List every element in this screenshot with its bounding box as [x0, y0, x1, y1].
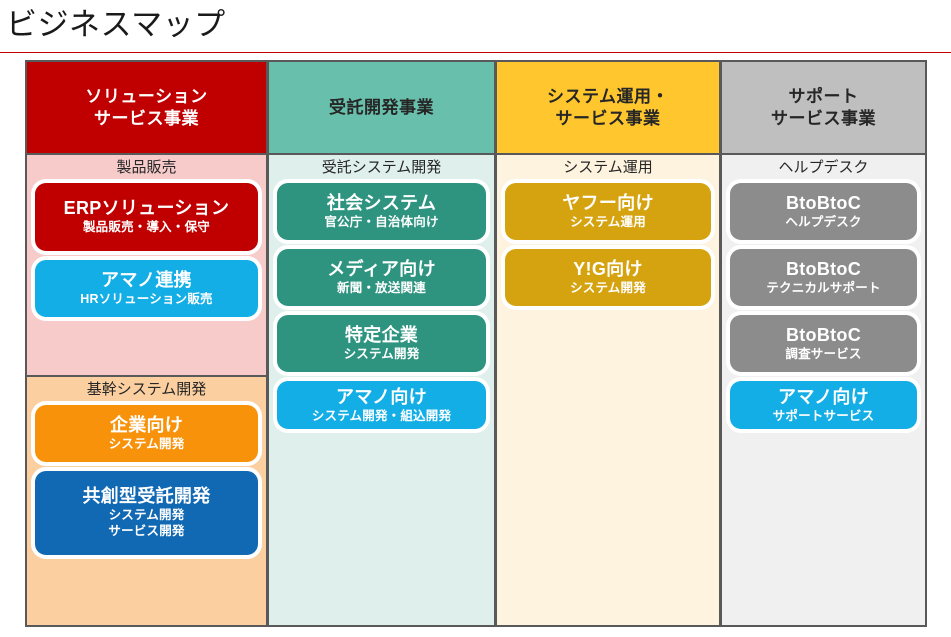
service-card-title: 共創型受託開発 [39, 485, 254, 507]
section-product-sales: 製品販売ERPソリューション製品販売・導入・保守アマノ連携HRソリューション販売 [27, 155, 266, 375]
section-title-product-sales: 製品販売 [35, 155, 258, 183]
column-contract-development: 受託開発事業受託システム開発社会システム官公庁・自治体向けメディア向け新聞・放送… [268, 60, 496, 627]
section-title-system-operation: システム運用 [505, 155, 711, 183]
column-header-support-service: サポートサービス事業 [722, 62, 925, 155]
section-spacer [730, 436, 917, 625]
service-card[interactable]: BtoBtoCヘルプデスク [730, 183, 917, 240]
section-spacer [505, 315, 711, 625]
service-card-title: アマノ連携 [39, 269, 254, 291]
service-card-subtitle: システム開発・組込開発 [281, 408, 482, 424]
column-header-system-operation-service: システム運用・サービス事業 [497, 62, 719, 155]
service-card[interactable]: Y!G向けシステム開発 [505, 249, 711, 306]
service-card[interactable]: アマノ向けサポートサービス [730, 381, 917, 429]
service-card-subtitle: システム開発 [39, 507, 254, 523]
service-card[interactable]: 社会システム官公庁・自治体向け [277, 183, 486, 240]
service-card-title: BtoBtoC [734, 192, 913, 214]
service-card-subtitle: ヘルプデスク [734, 214, 913, 230]
service-card-subtitle: 製品販売・導入・保守 [39, 219, 254, 235]
section-spacer [35, 326, 258, 375]
section-title-contract-system-development: 受託システム開発 [277, 155, 486, 183]
section-system-operation: システム運用ヤフー向けシステム運用Y!G向けシステム開発 [497, 155, 719, 625]
service-card-subtitle-2: サービス開発 [39, 523, 254, 539]
service-card[interactable]: 共創型受託開発システム開発サービス開発 [35, 471, 258, 555]
column-solution-service: ソリューションサービス事業製品販売ERPソリューション製品販売・導入・保守アマノ… [25, 60, 268, 627]
service-card[interactable]: メディア向け新聞・放送関連 [277, 249, 486, 306]
column-header-line2: サービス事業 [771, 108, 876, 130]
service-card-title: メディア向け [281, 258, 482, 280]
service-card[interactable]: BtoBtoC調査サービス [730, 315, 917, 372]
service-card[interactable]: アマノ向けシステム開発・組込開発 [277, 381, 486, 429]
service-card-subtitle: HRソリューション販売 [39, 291, 254, 307]
service-card-subtitle: サポートサービス [734, 408, 913, 424]
column-header-contract-development: 受託開発事業 [269, 62, 494, 155]
service-card[interactable]: BtoBtoCテクニカルサポート [730, 249, 917, 306]
service-card-subtitle: システム運用 [509, 214, 707, 230]
column-header-line1: 受託開発事業 [329, 97, 434, 119]
service-card-title: アマノ向け [734, 386, 913, 408]
page-title: ビジネスマップ [6, 2, 226, 48]
column-header-line1: サポート [771, 86, 876, 108]
column-header-line2: サービス事業 [85, 108, 207, 130]
service-card-title: BtoBtoC [734, 324, 913, 346]
service-card-title: ヤフー向け [509, 192, 707, 214]
service-card-title: 社会システム [281, 192, 482, 214]
service-card-subtitle: システム開発 [509, 280, 707, 296]
service-card[interactable]: アマノ連携HRソリューション販売 [35, 260, 258, 317]
service-card-title: BtoBtoC [734, 258, 913, 280]
service-card-subtitle: 調査サービス [734, 346, 913, 362]
service-card-subtitle: テクニカルサポート [734, 280, 913, 296]
service-card-subtitle: 新聞・放送関連 [281, 280, 482, 296]
service-card-subtitle: システム開発 [281, 346, 482, 362]
section-title-core-system-development: 基幹システム開発 [35, 377, 258, 405]
service-card-title: アマノ向け [281, 386, 482, 408]
section-core-system-development: 基幹システム開発企業向けシステム開発共創型受託開発システム開発サービス開発 [27, 375, 266, 625]
service-card[interactable]: ヤフー向けシステム運用 [505, 183, 711, 240]
service-card-title: 企業向け [39, 414, 254, 436]
service-card[interactable]: 企業向けシステム開発 [35, 405, 258, 462]
section-help-desk: ヘルプデスクBtoBtoCヘルプデスクBtoBtoCテクニカルサポートBtoBt… [722, 155, 925, 625]
column-header-solution-service: ソリューションサービス事業 [27, 62, 266, 155]
column-header-line1: ソリューション [85, 86, 207, 108]
section-spacer [35, 564, 258, 625]
title-divider [0, 52, 951, 53]
column-system-operation-service: システム運用・サービス事業システム運用ヤフー向けシステム運用Y!G向けシステム開… [496, 60, 721, 627]
service-card-subtitle: システム開発 [39, 436, 254, 452]
section-title-help-desk: ヘルプデスク [730, 155, 917, 183]
service-card-title: Y!G向け [509, 258, 707, 280]
service-card[interactable]: 特定企業システム開発 [277, 315, 486, 372]
section-contract-system-development: 受託システム開発社会システム官公庁・自治体向けメディア向け新聞・放送関連特定企業… [269, 155, 494, 625]
section-spacer [277, 436, 486, 625]
service-card[interactable]: ERPソリューション製品販売・導入・保守 [35, 183, 258, 251]
column-header-line1: システム運用・ [547, 86, 669, 108]
column-support-service: サポートサービス事業ヘルプデスクBtoBtoCヘルプデスクBtoBtoCテクニカ… [721, 60, 927, 627]
column-header-line2: サービス事業 [547, 108, 669, 130]
service-card-subtitle: 官公庁・自治体向け [281, 214, 482, 230]
service-card-title: 特定企業 [281, 324, 482, 346]
service-card-title: ERPソリューション [39, 197, 254, 219]
business-map: ソリューションサービス事業製品販売ERPソリューション製品販売・導入・保守アマノ… [25, 60, 927, 627]
